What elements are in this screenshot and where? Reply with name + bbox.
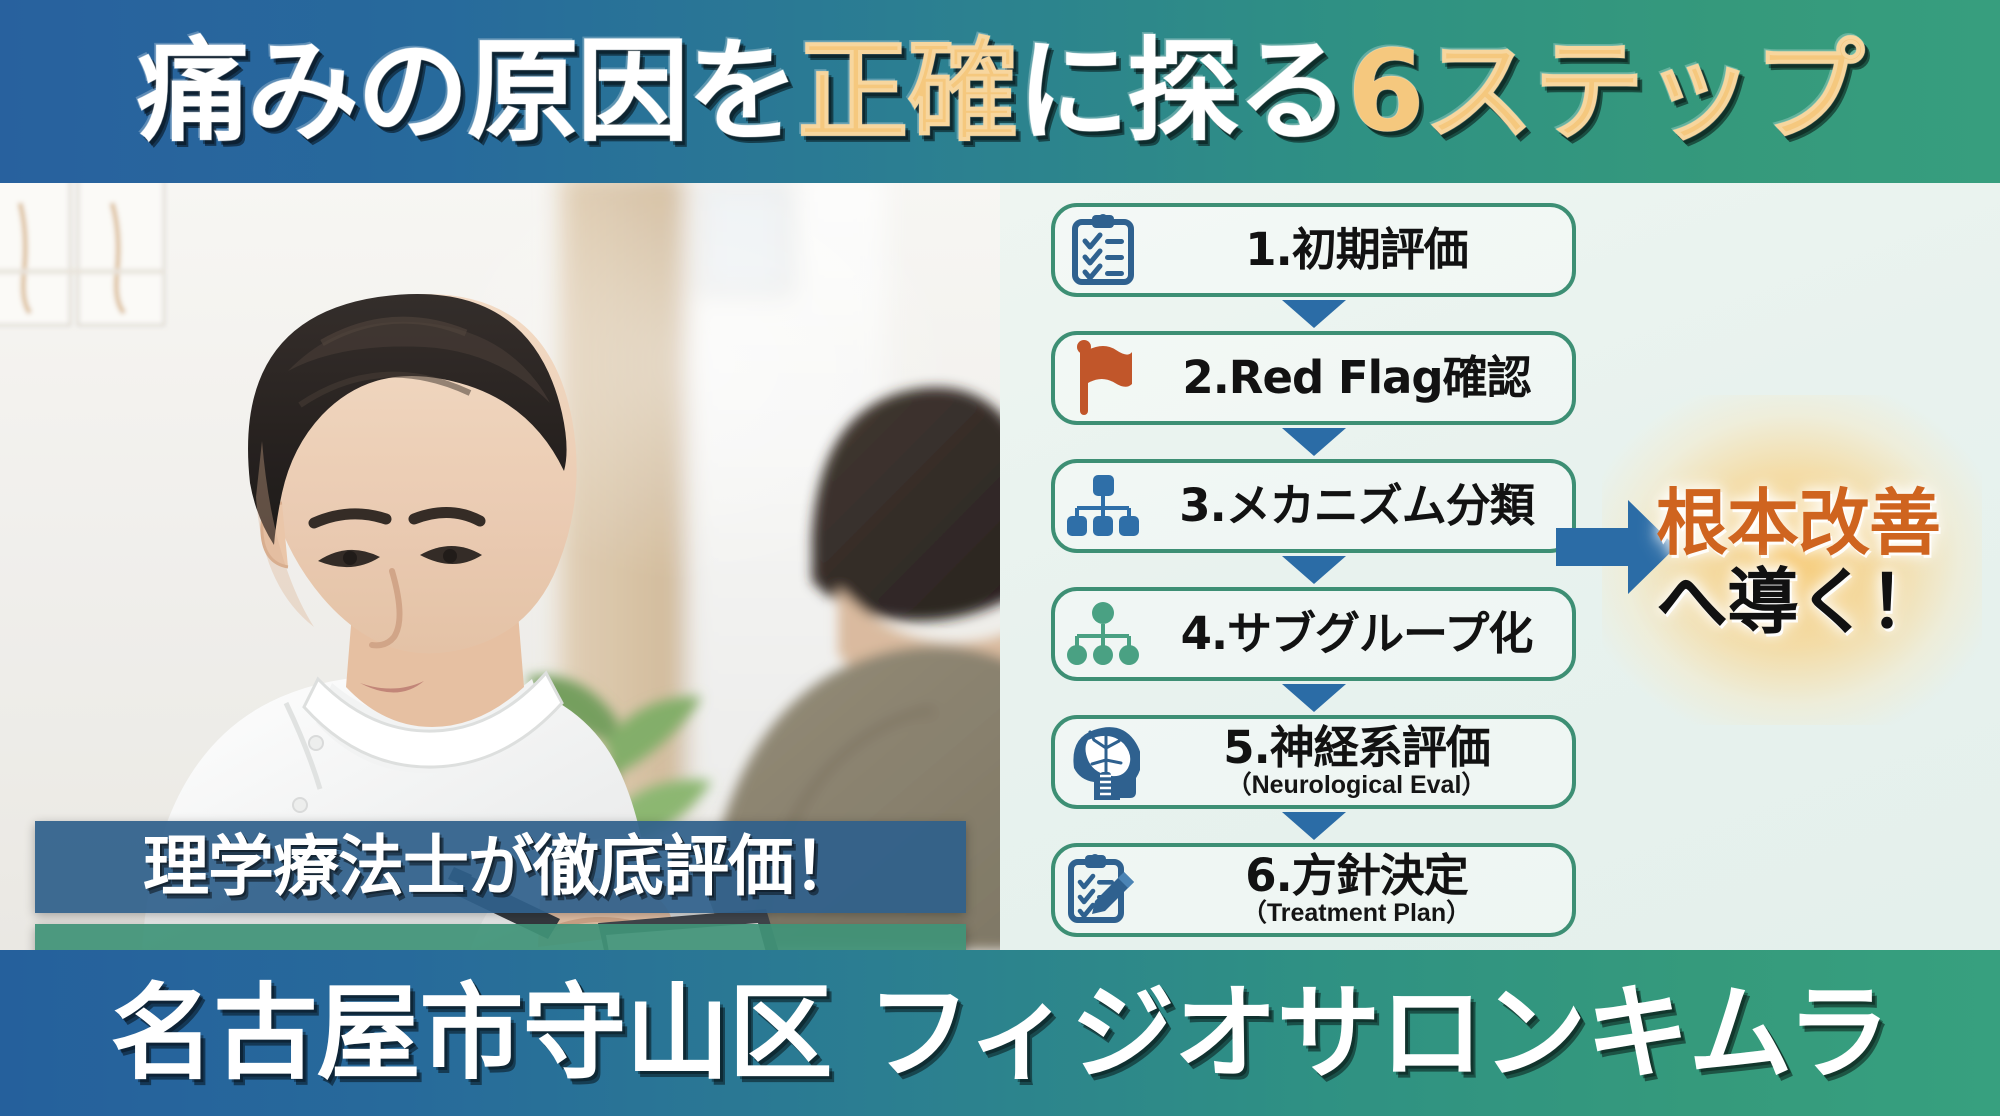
step-label-4: 4.サブグループ化 (1151, 611, 1572, 657)
clinic-name: 名古屋市守山区 フィジオサロンキムラ (0, 981, 2000, 1085)
step-label-3: 3.メカニズム分類 (1151, 483, 1572, 529)
flow-arrow-4 (1051, 681, 1576, 715)
hierarchy-circles-icon (1055, 602, 1151, 666)
arrow-down-icon (1282, 300, 1346, 328)
callout-line-2: へ導く！ (1656, 566, 1940, 639)
step-item-6[interactable]: 6.方針決定 （Treatment Plan） (1051, 843, 1576, 937)
clipboard-checklist-icon (1055, 214, 1151, 286)
step-item-1[interactable]: 1.初期評価 (1051, 203, 1576, 297)
footer-band: 名古屋市守山区 フィジオサロンキムラ (0, 950, 2000, 1116)
caption-bar-evaluation: 理学療法士が徹底評価！ (35, 821, 966, 913)
flow-arrow-3 (1051, 553, 1576, 587)
step-title-4: 4.サブグループ化 (1181, 611, 1533, 657)
step-title-3: 3.メカニズム分類 (1179, 483, 1533, 529)
page-title: 痛みの原因を正確に探る6ステップ (0, 36, 2000, 148)
flow-arrow-5 (1051, 809, 1576, 843)
flow-arrow-1 (1051, 297, 1576, 331)
step-item-4[interactable]: 4.サブグループ化 (1051, 587, 1576, 681)
step-subtitle-5: （Neurological Eval） (1227, 772, 1487, 798)
step-subtitle-6: （Treatment Plan） (1242, 900, 1471, 926)
consultation-photo: 理学療法士が徹底評価！ 痛みの原因を特定 (0, 183, 1000, 950)
header-title-highlight: 正確 (797, 27, 1017, 157)
step-title-2: 2.Red Flag確認 (1182, 355, 1530, 401)
steps-flow-list: 1.初期評価 2.Red Flag確認 (1051, 203, 1576, 943)
red-flag-icon (1055, 340, 1151, 416)
header-title-part1: 痛みの原因を (137, 27, 797, 157)
arrow-down-icon (1282, 684, 1346, 712)
clipboard-pencil-icon (1055, 852, 1151, 928)
step-item-2[interactable]: 2.Red Flag確認 (1051, 331, 1576, 425)
step-item-5[interactable]: 5.神経系評価 （Neurological Eval） (1051, 715, 1576, 809)
header-title-highlight2: 6ステップ (1347, 27, 1863, 157)
hierarchy-squares-icon (1055, 474, 1151, 538)
step-label-5: 5.神経系評価 （Neurological Eval） (1151, 725, 1572, 798)
thumbnail-canvas: 痛みの原因を正確に探る6ステップ (0, 0, 2000, 1116)
arrow-down-icon (1282, 556, 1346, 584)
callout-line-1: 根本改善 (1656, 487, 1940, 560)
step-label-2: 2.Red Flag確認 (1151, 355, 1572, 401)
step-title-6: 6.方針決定 (1245, 853, 1467, 899)
step-title-5: 5.神経系評価 (1223, 725, 1489, 771)
caption-bar-identify-cause: 痛みの原因を特定 (35, 924, 966, 950)
step-title-1: 1.初期評価 (1245, 227, 1467, 273)
outcome-callout: 根本改善 へ導く！ (1620, 438, 1976, 688)
caption-blue-text: 理学療法士が徹底評価！ (35, 834, 966, 900)
step-item-3[interactable]: 3.メカニズム分類 (1051, 459, 1576, 553)
step-label-1: 1.初期評価 (1151, 227, 1572, 273)
arrow-down-icon (1282, 812, 1346, 840)
header-title-part2: に探る (1017, 27, 1347, 157)
step-label-6: 6.方針決定 （Treatment Plan） (1151, 853, 1572, 926)
header-band: 痛みの原因を正確に探る6ステップ (0, 0, 2000, 183)
arrow-down-icon (1282, 428, 1346, 456)
head-brain-icon (1055, 724, 1151, 800)
flow-arrow-2 (1051, 425, 1576, 459)
